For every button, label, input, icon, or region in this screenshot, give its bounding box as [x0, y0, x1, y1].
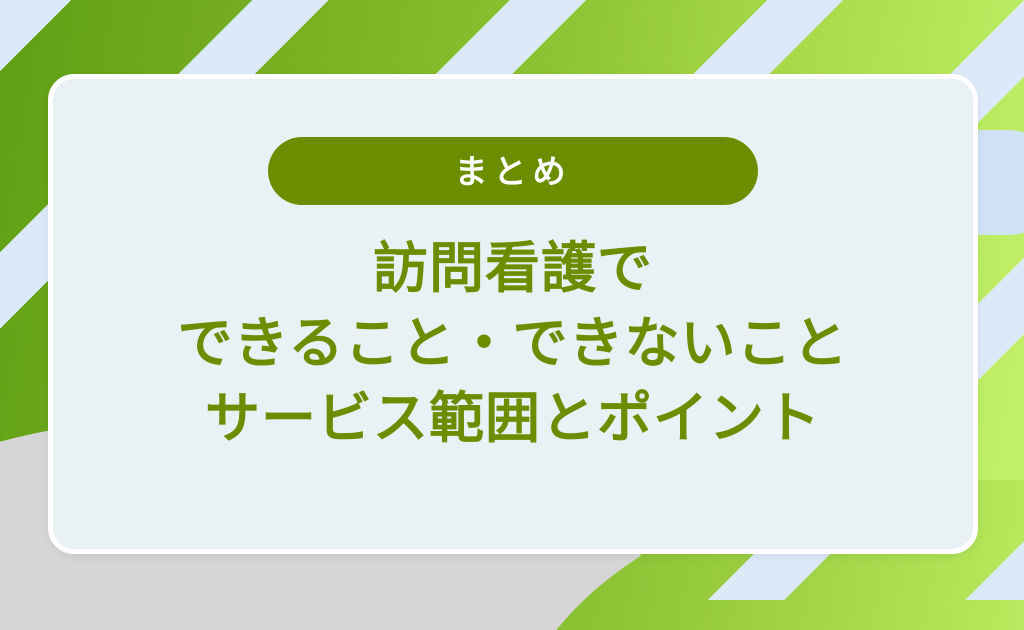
page-title-line-3: サービス範囲とポイント — [73, 381, 953, 456]
page-title-line-1: 訪問看護で — [73, 231, 953, 306]
summary-badge: まとめ — [268, 137, 758, 205]
summary-card: まとめ 訪問看護で できること・できないこと サービス範囲とポイント — [48, 74, 978, 554]
slide-canvas: まとめ 訪問看護で できること・できないこと サービス範囲とポイント — [0, 0, 1024, 630]
page-title: 訪問看護で できること・できないこと サービス範囲とポイント — [53, 231, 973, 455]
page-title-line-2: できること・できないこと — [73, 306, 953, 381]
